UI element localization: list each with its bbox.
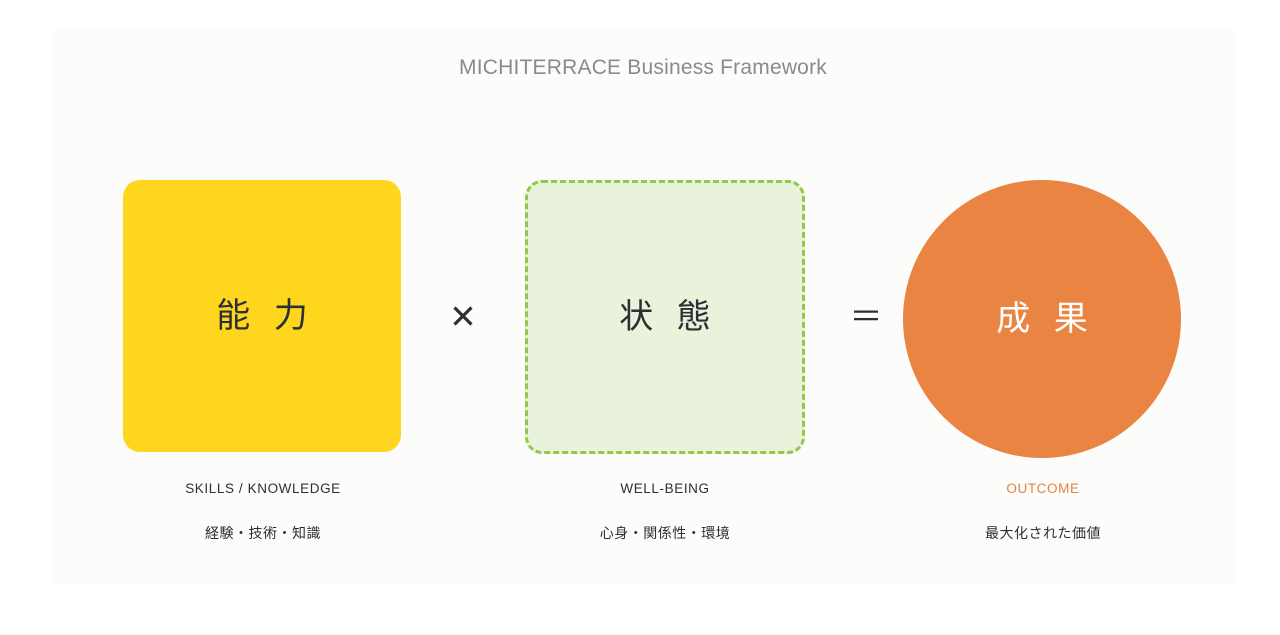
- skills-square-shape: 能 力: [123, 180, 401, 452]
- outcome-caption-ja: 最大化された価値: [903, 523, 1183, 543]
- framework-term-state: 状 態 WELL-BEING 心身・関係性・環境: [525, 180, 805, 560]
- state-caption-en: WELL-BEING: [525, 481, 805, 496]
- shape-container-skills: 能 力: [123, 180, 403, 452]
- state-caption-ja: 心身・関係性・環境: [525, 523, 805, 543]
- state-dashed-square-shape: 状 態: [525, 180, 805, 454]
- state-captions: WELL-BEING 心身・関係性・環境: [525, 452, 805, 543]
- framework-equation: 能 力 SKILLS / KNOWLEDGE 経験・技術・知識 ✕ 状 態 WE…: [51, 180, 1235, 560]
- skills-caption-ja: 経験・技術・知識: [123, 523, 403, 543]
- framework-figure-panel: MICHITERRACE Business Framework 能 力 SKIL…: [51, 30, 1235, 585]
- state-shape-label: 状 態: [612, 300, 717, 334]
- shape-container-state: 状 態: [525, 180, 805, 452]
- skills-shape-label: 能 力: [209, 299, 314, 333]
- framework-term-outcome: 成 果 OUTCOME 最大化された価値: [903, 180, 1183, 560]
- equals-operator-icon: ＝: [836, 180, 896, 452]
- page-title: MICHITERRACE Business Framework: [51, 56, 1235, 80]
- multiply-operator-icon: ✕: [433, 180, 493, 452]
- outcome-circle-shape: 成 果: [903, 180, 1181, 458]
- framework-term-skills: 能 力 SKILLS / KNOWLEDGE 経験・技術・知識: [123, 180, 403, 560]
- outcome-shape-label: 成 果: [989, 302, 1094, 336]
- outcome-captions: OUTCOME 最大化された価値: [903, 452, 1183, 543]
- skills-captions: SKILLS / KNOWLEDGE 経験・技術・知識: [123, 452, 403, 543]
- shape-container-outcome: 成 果: [903, 180, 1183, 452]
- outcome-caption-en: OUTCOME: [903, 481, 1183, 496]
- skills-caption-en: SKILLS / KNOWLEDGE: [123, 481, 403, 496]
